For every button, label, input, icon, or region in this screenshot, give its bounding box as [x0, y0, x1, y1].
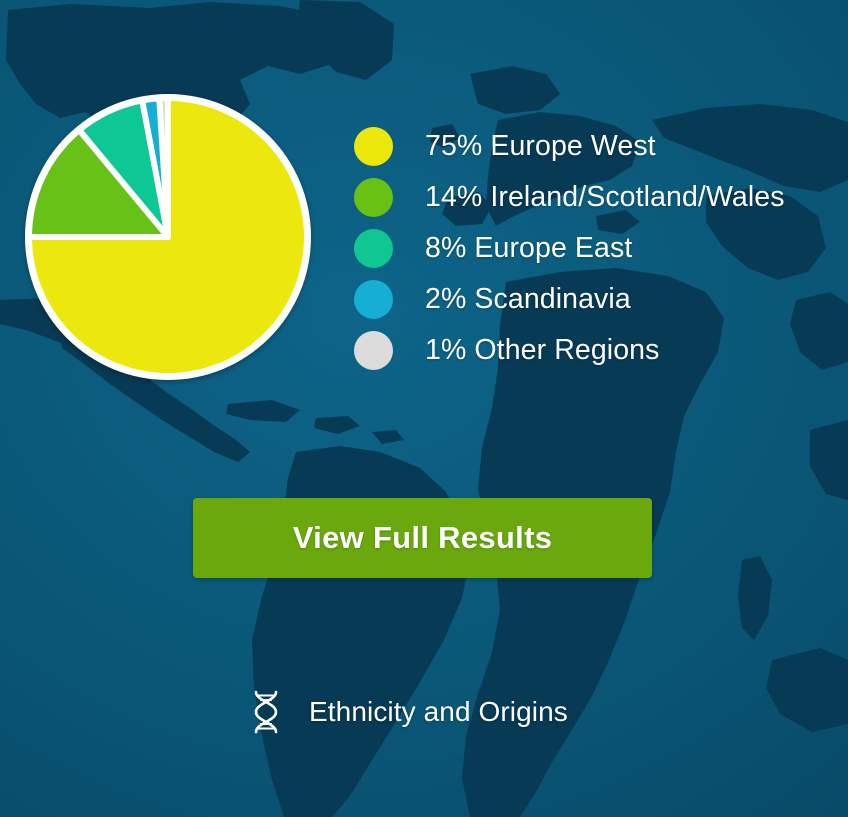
legend-label-europe-east: 8% Europe East — [425, 232, 632, 265]
legend-swatch-ireland-scotland-wales — [354, 178, 393, 217]
legend-item-other-regions[interactable]: 1% Other Regions — [354, 325, 834, 376]
legend-item-europe-west[interactable]: 75% Europe West — [354, 121, 834, 172]
dna-icon — [249, 690, 283, 734]
legend-label-ireland-scotland-wales: 14% Ireland/Scotland/Wales — [425, 181, 785, 214]
ethnicity-and-origins-label: Ethnicity and Origins — [309, 696, 568, 728]
legend-swatch-other-regions — [354, 331, 393, 370]
legend-item-ireland-scotland-wales[interactable]: 14% Ireland/Scotland/Wales — [354, 172, 834, 223]
legend-item-scandinavia[interactable]: 2% Scandinavia — [354, 274, 834, 325]
legend-item-europe-east[interactable]: 8% Europe East — [354, 223, 834, 274]
ethnicity-pie-chart — [22, 91, 314, 383]
legend-swatch-europe-west — [354, 127, 393, 166]
ethnicity-summary-card: 75% Europe West 14% Ireland/Scotland/Wal… — [0, 0, 848, 817]
legend-label-other-regions: 1% Other Regions — [425, 334, 659, 367]
legend-label-scandinavia: 2% Scandinavia — [425, 283, 631, 316]
ethnicity-and-origins-link[interactable]: Ethnicity and Origins — [249, 690, 568, 734]
legend-swatch-europe-east — [354, 229, 393, 268]
view-full-results-button[interactable]: View Full Results — [193, 498, 652, 578]
legend-label-europe-west: 75% Europe West — [425, 130, 656, 163]
ethnicity-legend: 75% Europe West 14% Ireland/Scotland/Wal… — [354, 121, 834, 376]
legend-swatch-scandinavia — [354, 280, 393, 319]
